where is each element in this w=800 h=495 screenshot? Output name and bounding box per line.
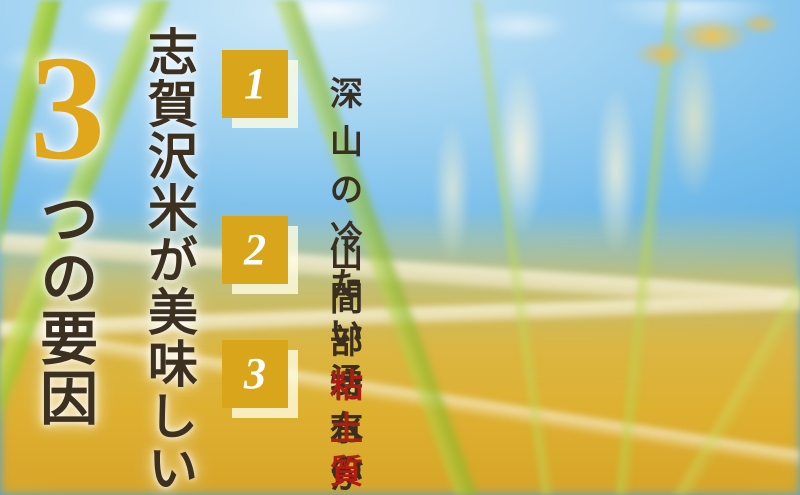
promo-banner: 志賀沢米が美味しい 3 つの要因 1 深山の冷たい湧水が 集まった豊富な水資源 … xyxy=(0,0,800,495)
headline-sub-vertical: つの要因 xyxy=(34,188,93,428)
headline-big-number: 3 xyxy=(30,42,105,174)
headline-main-vertical: 志賀沢米が美味しい xyxy=(144,26,194,494)
headline-block: 志賀沢米が美味しい 3 つの要因 xyxy=(0,0,210,495)
reason-badge-3: 3 xyxy=(222,340,288,408)
reason-list: 1 深山の冷たい湧水が 集まった豊富な水資源 2 山間部特有の昼夜の寒暖差 3 xyxy=(222,0,800,495)
reason-badge-2: 2 xyxy=(222,216,288,284)
reason-badge-1: 1 xyxy=(222,50,288,118)
reason-text-3-highlight: 粘土質 xyxy=(330,369,364,491)
